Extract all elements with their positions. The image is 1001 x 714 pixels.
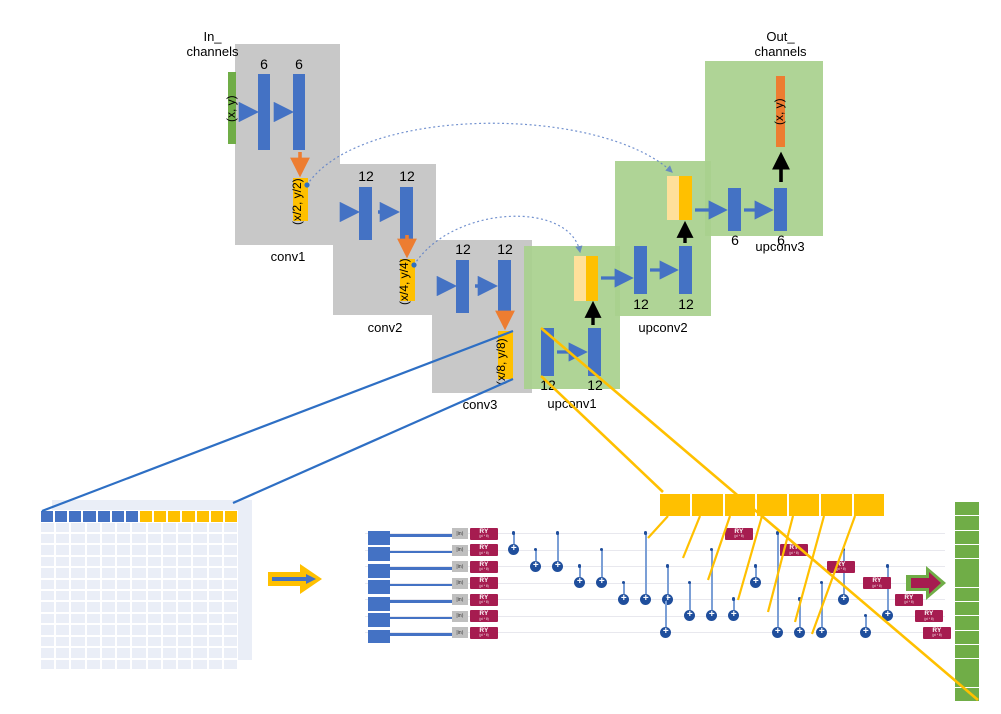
matrix-cell-orange [153, 510, 167, 523]
result-vector [955, 502, 979, 702]
output-register-cell [854, 494, 884, 516]
matrix-cell-blue [111, 510, 125, 523]
matrix-cell [208, 590, 223, 601]
matrix-cell [223, 624, 238, 635]
cnot-link [777, 533, 779, 632]
matrix-cell [70, 624, 85, 635]
matrix-cell [116, 521, 131, 532]
matrix-cell [116, 601, 131, 612]
matrix-cell [177, 567, 192, 578]
matrix-cell [223, 579, 238, 590]
result-vector-cell [955, 502, 979, 515]
result-vector-cell [955, 573, 979, 586]
matrix-cell [101, 521, 116, 532]
matrix-cell [208, 544, 223, 555]
cnot-control[interactable] [776, 531, 779, 534]
matrix-to-circuit-arrow [268, 564, 322, 594]
matrix-cell [147, 556, 162, 567]
cnot-control[interactable] [644, 531, 647, 534]
CNOT-gate[interactable]: + [816, 627, 827, 638]
quantum-circuit: |in⟩RY(pi * θ)|in⟩RY(pi * θ)|in⟩RY(pi * … [365, 525, 945, 655]
matrix-cell [177, 659, 192, 670]
matrix-cell [70, 556, 85, 567]
matrix-cell [177, 521, 192, 532]
matrix-cell [192, 590, 207, 601]
matrix-cell [223, 647, 238, 658]
state-prep-gate[interactable]: |in⟩ [452, 528, 468, 539]
upconv2-upsample-block [679, 176, 692, 220]
upconv1-feature-block-2 [588, 328, 601, 376]
cnot-control[interactable] [512, 531, 515, 534]
conv1-panel [235, 44, 340, 245]
matrix-cell [147, 533, 162, 544]
matrix-cell [55, 567, 70, 578]
matrix-cell [162, 590, 177, 601]
RY-gate[interactable]: RY(pi * θ) [923, 627, 951, 639]
matrix-cell [192, 579, 207, 590]
conv2-feature-block-1 [359, 187, 372, 240]
matrix-cell-orange [224, 510, 238, 523]
matrix-cell [223, 533, 238, 544]
cnot-control[interactable] [600, 548, 603, 551]
cnot-control[interactable] [732, 597, 735, 600]
result-vector-cell [955, 545, 979, 558]
matrix-cell [55, 659, 70, 670]
input-register-cell [368, 547, 390, 561]
matrix-cell [162, 613, 177, 624]
matrix-cell [55, 590, 70, 601]
matrix-cell [162, 636, 177, 647]
matrix-cell [208, 647, 223, 658]
conv3-feature-block-2 [498, 260, 511, 313]
matrix-cell [70, 636, 85, 647]
cnot-control[interactable] [622, 581, 625, 584]
RY-gate[interactable]: RY(pi * θ) [470, 627, 498, 639]
output-register-cell [692, 494, 722, 516]
matrix-cell [131, 556, 146, 567]
matrix-cell-blue [82, 510, 96, 523]
RY-gate[interactable]: RY(pi * θ) [470, 561, 498, 573]
CNOT-gate[interactable]: + [640, 594, 651, 605]
matrix-cell-orange [210, 510, 224, 523]
RY-gate[interactable]: RY(pi * θ) [915, 610, 943, 622]
matrix-cell [177, 533, 192, 544]
matrix-cell [101, 624, 116, 635]
matrix-cell [177, 636, 192, 647]
conv3-caption: conv3 [440, 397, 520, 412]
CNOT-gate[interactable]: + [728, 610, 739, 621]
matrix-cell-orange [196, 510, 210, 523]
matrix-cell [40, 624, 55, 635]
matrix-cell [147, 659, 162, 670]
cnot-link [843, 550, 845, 600]
conv3-feature-block-1 [456, 260, 469, 313]
matrix-cell [177, 579, 192, 590]
cnot-control[interactable] [842, 548, 845, 551]
output-register-cell [660, 494, 690, 516]
register-lead [387, 617, 452, 620]
result-vector-cell [955, 688, 979, 701]
CNOT-gate[interactable]: + [860, 627, 871, 638]
matrix-cell [131, 579, 146, 590]
matrix-cell [55, 636, 70, 647]
out-channels-label-line1: Out_ [743, 30, 818, 45]
output-register-cell [725, 494, 755, 516]
matrix-cell [223, 544, 238, 555]
register-lead [387, 633, 452, 636]
matrix-cell [40, 601, 55, 612]
matrix-cell [147, 590, 162, 601]
result-vector-cell [955, 645, 979, 658]
feature-matrix [40, 500, 255, 675]
matrix-cell [131, 659, 146, 670]
matrix-cell [70, 579, 85, 590]
out-channels-label-line2: channels [743, 45, 818, 60]
upconv1-upsample-block [586, 256, 598, 301]
matrix-cell [223, 636, 238, 647]
output-register-cell [821, 494, 851, 516]
RY-gate[interactable]: RY(pi * θ) [895, 594, 923, 606]
input-register-cell [368, 613, 390, 627]
matrix-cell [192, 647, 207, 658]
matrix-cell [223, 601, 238, 612]
matrix-highlight-row [40, 510, 238, 523]
matrix-cell [177, 590, 192, 601]
matrix-cell [70, 521, 85, 532]
cnot-control[interactable] [864, 614, 867, 617]
upconv3-caption: upconv3 [735, 239, 825, 254]
matrix-cell [162, 521, 177, 532]
matrix-cell [223, 590, 238, 601]
matrix-cell [86, 533, 101, 544]
in-dims-label: (x, y) [224, 95, 238, 122]
matrix-cell [131, 590, 146, 601]
CNOT-gate[interactable]: + [530, 561, 541, 572]
cnot-link [711, 550, 713, 616]
matrix-cell [147, 521, 162, 532]
CNOT-gate[interactable]: + [552, 561, 563, 572]
matrix-cell [131, 613, 146, 624]
matrix-cell [131, 567, 146, 578]
result-vector-cell [955, 516, 979, 529]
matrix-cell [55, 601, 70, 612]
matrix-cell [101, 613, 116, 624]
CNOT-gate[interactable]: + [660, 627, 671, 638]
matrix-cell [55, 556, 70, 567]
matrix-cell [70, 601, 85, 612]
conv3-panel [432, 240, 532, 393]
matrix-cell [223, 659, 238, 670]
matrix-cell [40, 521, 55, 532]
matrix-cell [101, 590, 116, 601]
matrix-cell [192, 521, 207, 532]
output-register-cell [789, 494, 819, 516]
matrix-cell-blue [54, 510, 68, 523]
cnot-control[interactable] [886, 564, 889, 567]
matrix-cell [208, 579, 223, 590]
matrix-cell [192, 556, 207, 567]
cnot-link [821, 583, 823, 633]
result-vector-cell [955, 673, 979, 686]
conv1-channel-label-1: 6 [249, 56, 279, 72]
matrix-cell [55, 647, 70, 658]
matrix-cell-orange [167, 510, 181, 523]
upconv2-feature-block-2 [679, 246, 692, 294]
register-lead [387, 551, 452, 554]
state-prep-gate[interactable]: |in⟩ [452, 578, 468, 589]
matrix-cell [86, 636, 101, 647]
RY-gate[interactable]: RY(pi * θ) [470, 610, 498, 622]
cnot-control[interactable] [666, 564, 669, 567]
matrix-cell [55, 521, 70, 532]
matrix-cell [116, 579, 131, 590]
matrix-cell [177, 601, 192, 612]
matrix-cell [131, 601, 146, 612]
state-prep-gate[interactable]: |in⟩ [452, 627, 468, 638]
matrix-cell [177, 544, 192, 555]
CNOT-gate[interactable]: + [706, 610, 717, 621]
upconv1-caption: upconv1 [527, 396, 617, 411]
matrix-cell-blue [125, 510, 139, 523]
CNOT-gate[interactable]: + [596, 577, 607, 588]
matrix-cell [116, 647, 131, 658]
CNOT-gate[interactable]: + [508, 544, 519, 555]
matrix-cell [116, 624, 131, 635]
RY-gate[interactable]: RY(pi * θ) [863, 577, 891, 589]
upconv3-feature-block-1 [728, 188, 741, 231]
matrix-cell [177, 613, 192, 624]
input-register-cell [368, 630, 390, 644]
matrix-cell [101, 647, 116, 658]
input-register-cell [368, 580, 390, 594]
matrix-cell [223, 556, 238, 567]
matrix-cell [55, 613, 70, 624]
matrix-cell [131, 647, 146, 658]
matrix-cell [40, 590, 55, 601]
matrix-cell [86, 579, 101, 590]
matrix-cell [86, 601, 101, 612]
result-vector-cell [955, 531, 979, 544]
matrix-cell [162, 601, 177, 612]
matrix-cell [208, 533, 223, 544]
matrix-cell [192, 567, 207, 578]
matrix-cell [162, 544, 177, 555]
matrix-cell [208, 521, 223, 532]
matrix-cell [147, 624, 162, 635]
matrix-cell [86, 613, 101, 624]
RY-gate[interactable]: RY(pi * θ) [470, 577, 498, 589]
matrix-cell [147, 544, 162, 555]
matrix-cell [192, 533, 207, 544]
matrix-cell [86, 590, 101, 601]
conv2-down-dims: (x/4, y/4) [397, 258, 411, 305]
cnot-control[interactable] [820, 581, 823, 584]
state-prep-gate[interactable]: |in⟩ [452, 611, 468, 622]
matrix-cell [223, 613, 238, 624]
result-vector-cell [955, 616, 979, 629]
register-lead [387, 567, 452, 570]
matrix-cell [40, 636, 55, 647]
matrix-cell [116, 590, 131, 601]
matrix-cell [116, 636, 131, 647]
output-register-cell [757, 494, 787, 516]
matrix-cell [162, 533, 177, 544]
matrix-cell [70, 544, 85, 555]
matrix-cell [55, 579, 70, 590]
matrix-grid [40, 510, 238, 670]
matrix-cell [223, 567, 238, 578]
RY-gate[interactable]: RY(pi * θ) [780, 544, 808, 556]
conv2-feature-block-2 [400, 187, 413, 240]
state-prep-gate[interactable]: |in⟩ [452, 545, 468, 556]
matrix-cell [131, 521, 146, 532]
matrix-cell [192, 544, 207, 555]
CNOT-gate[interactable]: + [684, 610, 695, 621]
matrix-cell [116, 613, 131, 624]
matrix-cell [86, 624, 101, 635]
conv1-channel-label-2: 6 [284, 56, 314, 72]
matrix-cell [40, 613, 55, 624]
matrix-cell [147, 567, 162, 578]
register-lead [387, 534, 452, 537]
result-vector-cell [955, 659, 979, 672]
circuit-output-register [659, 494, 885, 516]
matrix-cell [162, 624, 177, 635]
matrix-cell [116, 533, 131, 544]
matrix-cell [86, 647, 101, 658]
RY-gate[interactable]: RY(pi * θ) [470, 544, 498, 556]
matrix-cell [208, 567, 223, 578]
CNOT-gate[interactable]: + [772, 627, 783, 638]
matrix-cell [116, 544, 131, 555]
matrix-cell [192, 636, 207, 647]
matrix-cell [162, 659, 177, 670]
upconv3-panel [705, 61, 823, 236]
conv1-caption: conv1 [248, 249, 328, 264]
matrix-cell [147, 636, 162, 647]
out-dims-label: (x, y) [772, 98, 786, 125]
conv2-channel-label-2: 12 [392, 168, 422, 184]
matrix-cell-blue [40, 510, 54, 523]
result-vector-cell [955, 588, 979, 601]
figure-root: In_ channels (x, y) 6 6 (x/2, y/2) conv1… [0, 0, 1001, 714]
matrix-cell [86, 556, 101, 567]
matrix-cell [208, 601, 223, 612]
RY-gate[interactable]: RY(pi * θ) [470, 594, 498, 606]
matrix-cell [70, 659, 85, 670]
CNOT-gate[interactable]: + [750, 577, 761, 588]
matrix-cell [147, 601, 162, 612]
cnot-link [645, 533, 647, 599]
matrix-cell [131, 624, 146, 635]
matrix-cell [101, 659, 116, 670]
matrix-cell [116, 556, 131, 567]
cnot-control[interactable] [710, 548, 713, 551]
state-prep-gate[interactable]: |in⟩ [452, 561, 468, 572]
matrix-cell [208, 624, 223, 635]
matrix-cell [70, 567, 85, 578]
matrix-cell [177, 624, 192, 635]
matrix-cell [40, 556, 55, 567]
matrix-cell [147, 613, 162, 624]
CNOT-gate[interactable]: + [618, 594, 629, 605]
upconv2-channel-label-1: 12 [626, 296, 656, 312]
matrix-cell [208, 556, 223, 567]
CNOT-gate[interactable]: + [794, 627, 805, 638]
RY-gate[interactable]: RY(pi * θ) [827, 561, 855, 573]
cnot-control[interactable] [798, 597, 801, 600]
register-lead [387, 600, 452, 603]
upconv1-feature-block-1 [541, 328, 554, 376]
matrix-cell [40, 579, 55, 590]
matrix-cell-blue [97, 510, 111, 523]
matrix-cell [101, 567, 116, 578]
CNOT-gate[interactable]: + [882, 610, 893, 621]
matrix-cell [40, 544, 55, 555]
matrix-cell [40, 567, 55, 578]
input-register-cell [368, 531, 390, 545]
RY-gate[interactable]: RY(pi * θ) [470, 528, 498, 540]
cnot-control[interactable] [688, 581, 691, 584]
cnot-control[interactable] [534, 548, 537, 551]
CNOT-gate[interactable]: + [574, 577, 585, 588]
matrix-cell [162, 556, 177, 567]
conv1-feature-block-2 [293, 74, 305, 150]
RY-gate[interactable]: RY(pi * θ) [725, 528, 753, 540]
matrix-cell [40, 647, 55, 658]
circuit-input-register [368, 530, 390, 645]
in-channels-label-line2: channels [175, 45, 250, 60]
matrix-cell [101, 579, 116, 590]
input-register-cell [368, 564, 390, 578]
matrix-cell [192, 601, 207, 612]
matrix-cell [162, 567, 177, 578]
matrix-cell [192, 613, 207, 624]
CNOT-gate[interactable]: + [838, 594, 849, 605]
matrix-cell [177, 647, 192, 658]
in-channels-label-line1: In_ [175, 30, 250, 45]
matrix-cell-orange [139, 510, 153, 523]
matrix-cell-blue [68, 510, 82, 523]
conv2-channel-label-1: 12 [351, 168, 381, 184]
matrix-cell [162, 579, 177, 590]
matrix-cell [55, 544, 70, 555]
matrix-cell [55, 624, 70, 635]
matrix-cell [192, 624, 207, 635]
matrix-cell [86, 659, 101, 670]
matrix-cell [101, 636, 116, 647]
cnot-control[interactable] [754, 564, 757, 567]
conv1-down-dims: (x/2, y/2) [290, 178, 304, 225]
upconv1-channel-label-1: 12 [533, 377, 563, 393]
matrix-cell [101, 544, 116, 555]
matrix-cell [101, 601, 116, 612]
cnot-control[interactable] [556, 531, 559, 534]
cnot-control[interactable] [578, 564, 581, 567]
matrix-cell [116, 659, 131, 670]
matrix-cell [40, 659, 55, 670]
upconv2-caption: upconv2 [618, 320, 708, 335]
result-vector-cell [955, 602, 979, 615]
matrix-cell-orange [181, 510, 195, 523]
state-prep-gate[interactable]: |in⟩ [452, 594, 468, 605]
matrix-cell [208, 636, 223, 647]
matrix-cell [70, 590, 85, 601]
matrix-cell [70, 613, 85, 624]
matrix-cell [101, 533, 116, 544]
upconv1-skip-block [574, 256, 586, 301]
input-register-cell [368, 597, 390, 611]
